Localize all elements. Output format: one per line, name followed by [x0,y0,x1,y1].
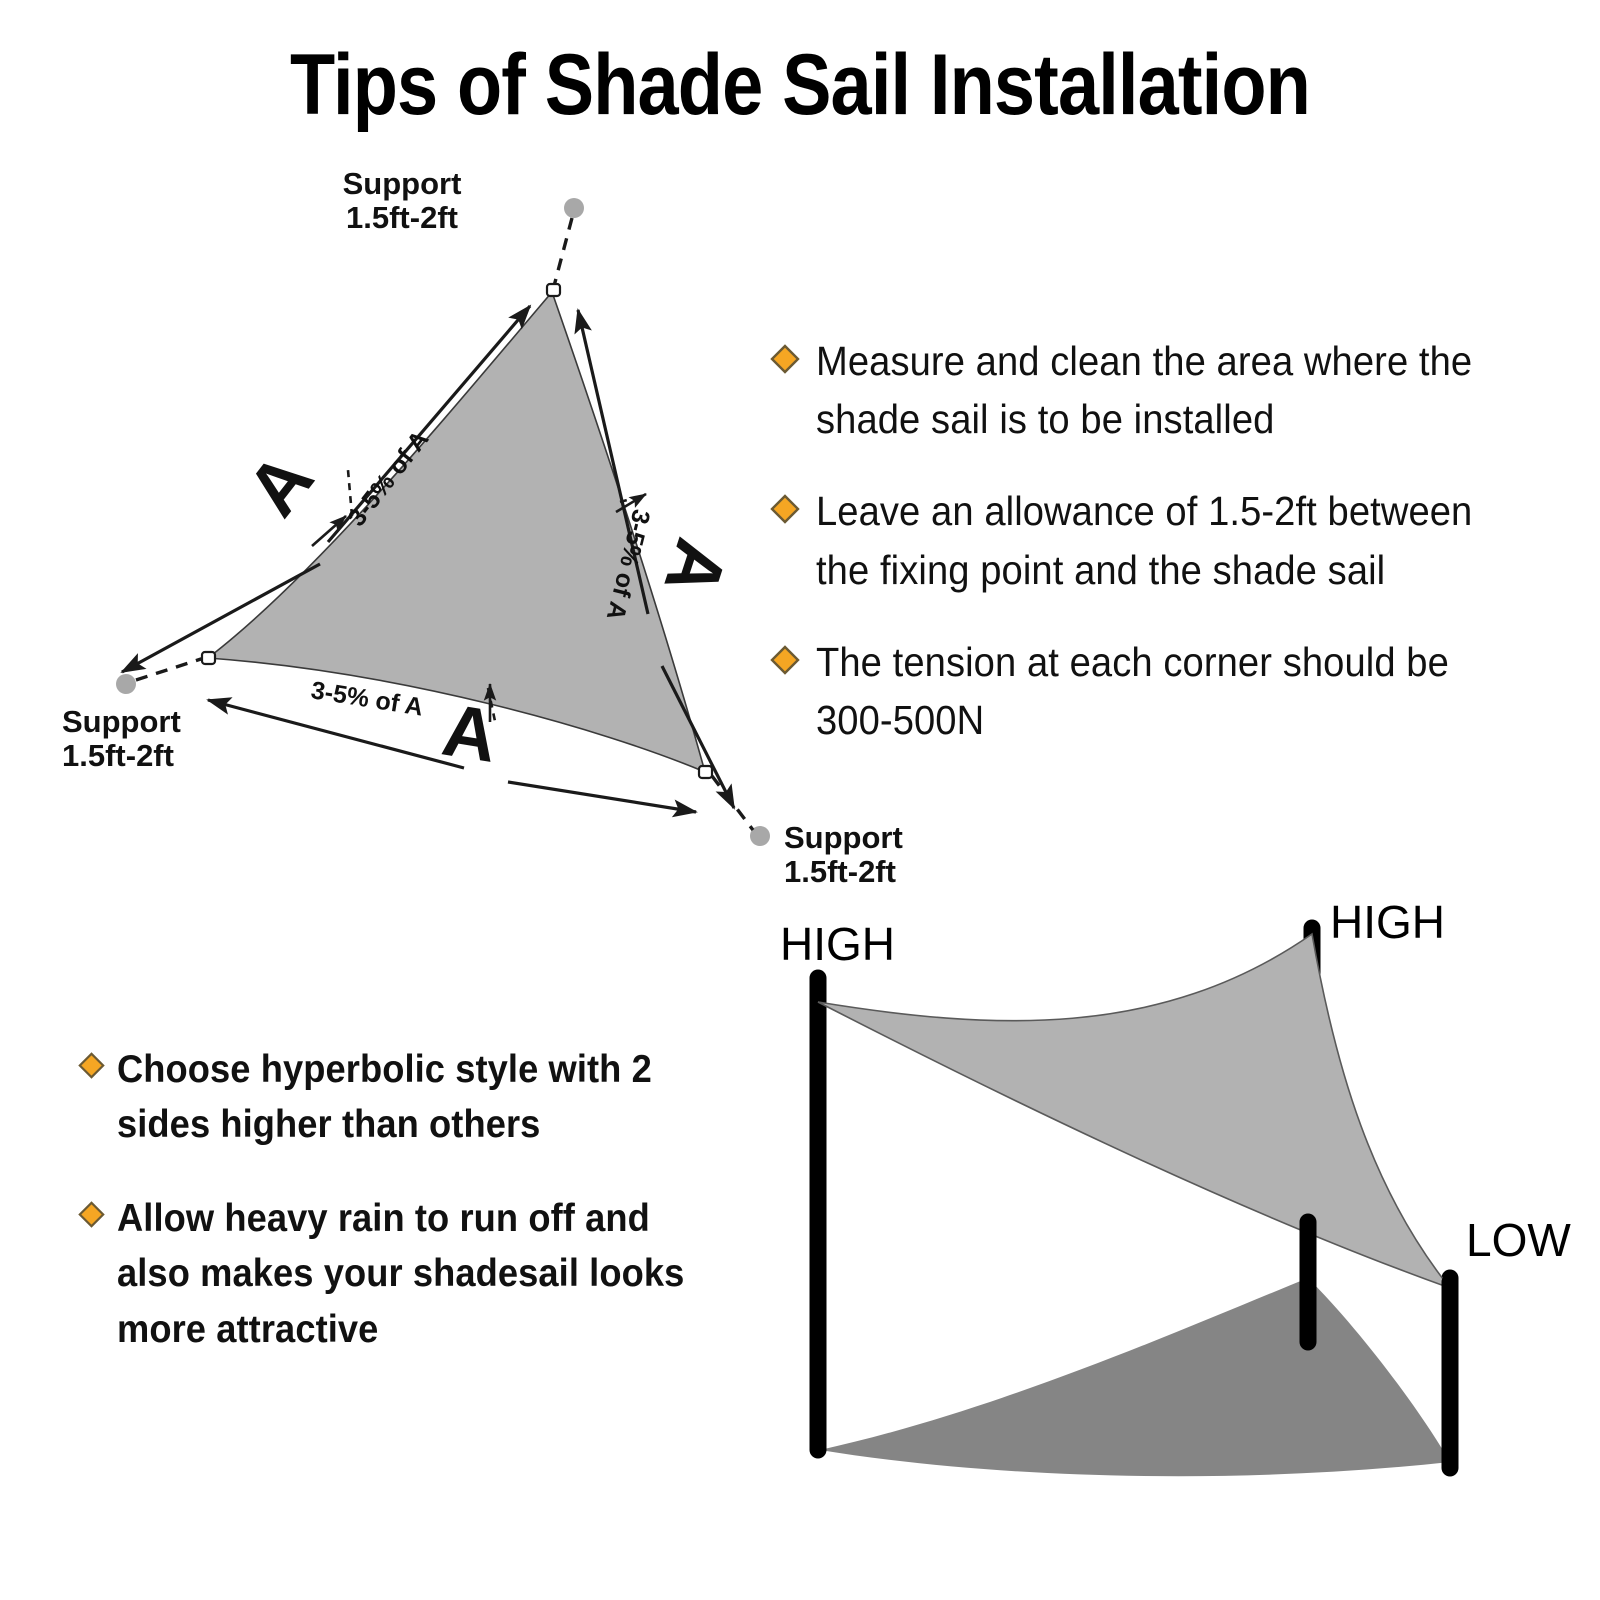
tip-text: Measure and clean the area where the sha… [816,332,1508,448]
pole-label-left: HIGH [780,918,895,970]
support-lead-top [554,218,572,286]
tips-list-left: Choose hyperbolic style with 2 sides hig… [78,1042,778,1395]
tip-text: Leave an allowance of 1.5-2ft between th… [816,482,1508,598]
arrow-bottom-right [508,782,696,812]
support-label-br-line1: Support [784,820,903,855]
diamond-bullet-icon [770,645,800,675]
support-label-top-line1: Support [343,166,462,201]
support-label-top: Support 1.5ft-2ft [343,166,462,235]
tip-item: Allow heavy rain to run off and also mak… [78,1191,778,1357]
support-label-left-line1: Support [62,704,181,739]
diamond-bullet-icon [770,344,800,374]
tip-item: Measure and clean the area where the sha… [770,332,1560,448]
support-label-br-line2: 1.5ft-2ft [784,854,896,889]
support-label-top-line2: 1.5ft-2ft [346,200,458,235]
support-dot-left [116,674,136,694]
side-letter-right: A [649,530,744,606]
side-letter-right-text: A [649,530,744,606]
page-title: Tips of Shade Sail Installation [112,42,1488,128]
tip-item: Choose hyperbolic style with 2 sides hig… [78,1042,778,1153]
side-letter-bottom: A [437,688,503,778]
diamond-bullet-icon [770,494,800,524]
hyperbolic-shade-sail-diagram: HIGH HIGH LOW [760,890,1600,1550]
pole-label-low: LOW [1466,1214,1571,1266]
tip-text: The tension at each corner should be 300… [816,633,1508,749]
tips-list-right: Measure and clean the area where the sha… [770,332,1560,783]
hyperbolic-sail-shape [818,934,1450,1288]
diamond-bullet-icon [78,1201,105,1228]
support-label-left: Support 1.5ft-2ft [62,704,181,773]
pole-label-top-right: HIGH [1330,896,1445,948]
tip-text: Allow heavy rain to run off and also mak… [117,1191,732,1357]
support-lead-left [136,658,204,680]
side-letter-bottom-text: A [437,688,503,778]
support-label-left-line2: 1.5ft-2ft [62,738,174,773]
tip-item: Leave an allowance of 1.5-2ft between th… [770,482,1560,598]
support-label-bottom-right: Support 1.5ft-2ft [784,820,903,889]
support-dot-top [564,198,584,218]
tip-text: Choose hyperbolic style with 2 sides hig… [117,1042,732,1153]
tip-item: The tension at each corner should be 300… [770,633,1560,749]
arrow-bottom-left [208,700,464,768]
diamond-bullet-icon [78,1052,105,1079]
sail-ground-shadow [820,1278,1450,1476]
side-letter-left-text: A [231,438,329,531]
side-letter-left: A [231,438,329,531]
